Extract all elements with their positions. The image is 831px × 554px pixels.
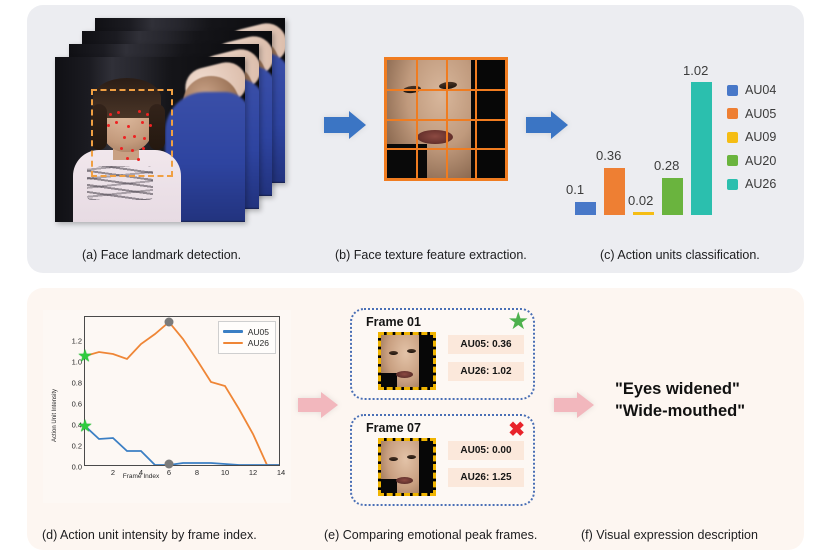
frame-thumbnail-07 (378, 438, 436, 496)
legend-line-icon (223, 330, 243, 332)
landmark-point (141, 121, 144, 124)
arrow-right-icon-4 (552, 390, 596, 425)
bar-au04 (575, 202, 596, 215)
legend-label: AU04 (745, 83, 776, 97)
bar-group: 0.1 0.36 0.02 0.28 1.02 (575, 65, 715, 215)
x-tick-10: 10 (221, 468, 229, 477)
legend-item-au26: AU26 (727, 177, 776, 191)
landmark-point (133, 135, 136, 138)
series-line-au05 (85, 426, 279, 465)
frame-thumbnail-01 (378, 332, 436, 390)
bar-column-au04: 0.1 (575, 65, 596, 215)
caption-c: (c) Action units classification. (600, 248, 760, 262)
legend-item-au09: AU09 (727, 130, 776, 144)
caption-d: (d) Action unit intensity by frame index… (42, 528, 257, 542)
description-line-2: "Wide-mouthed" (615, 400, 745, 422)
legend-label: AU20 (745, 154, 776, 168)
caption-a: (a) Face landmark detection. (82, 248, 241, 262)
y-tick-0: 0.0 (72, 463, 82, 472)
caption-b: (b) Face texture feature extraction. (335, 248, 527, 262)
legend-label: AU05 (745, 107, 776, 121)
bar-au20 (662, 178, 683, 215)
landmark-point (146, 113, 149, 116)
frame-card-title: Frame 07 (366, 421, 421, 435)
bar-column-au20: 0.28 (662, 65, 683, 215)
y-tick-4: 0.8 (72, 379, 82, 388)
bar-value-label: 0.02 (628, 193, 653, 208)
peak-star-marker-au26: ★ (77, 348, 92, 365)
frame-card-01[interactable]: Frame 01 ★ AU05: 0.36 AU26: 1.02 (350, 308, 535, 400)
metric-chip-au26: AU26: 1.02 (448, 362, 524, 381)
metric-chip-au26: AU26: 1.25 (448, 468, 524, 487)
face-texture-grid (384, 57, 508, 181)
landmark-point (127, 125, 130, 128)
y-tick-3: 0.6 (72, 400, 82, 409)
legend-swatch-icon (727, 179, 738, 190)
legend-item-au05: AU05 (727, 107, 776, 121)
legend-item-au04: AU04 (727, 83, 776, 97)
x-tick-8: 8 (195, 468, 199, 477)
landmark-point (126, 157, 129, 160)
peak-dot-marker-au26 (165, 318, 174, 327)
expression-description: "Eyes widened" "Wide-mouthed" (615, 378, 745, 423)
legend-label: AU05 (248, 327, 269, 337)
caption-e: (e) Comparing emotional peak frames. (324, 528, 537, 542)
landmark-point (143, 137, 146, 140)
peak-dot-marker-au05 (165, 460, 174, 469)
peak-star-marker-au05: ★ (77, 418, 92, 435)
caption-f: (f) Visual expression description (581, 528, 758, 542)
x-tick-12: 12 (249, 468, 257, 477)
landmark-point (107, 124, 110, 127)
bar-value-label: 0.36 (596, 148, 621, 163)
bar-column-au26: 1.02 (691, 65, 712, 215)
grid-line-v2 (446, 60, 448, 178)
bar-au05 (604, 168, 625, 215)
thumbnail-dark-region-2 (381, 479, 397, 493)
bar-value-label: 1.02 (683, 63, 708, 78)
bar-value-label: 0.1 (566, 182, 584, 197)
thumbnail-eye-left (389, 351, 398, 355)
legend-item-au26: AU26 (223, 338, 269, 348)
figure-canvas: 0.1 0.36 0.02 0.28 1.02 A (0, 0, 831, 554)
grid-line-v1 (416, 60, 418, 178)
metric-chip-au05: AU05: 0.36 (448, 335, 524, 354)
metric-chip-au05: AU05: 0.00 (448, 441, 524, 460)
legend-swatch-icon (727, 132, 738, 143)
legend-item-au20: AU20 (727, 154, 776, 168)
arrow-right-icon-2 (524, 110, 570, 145)
arrow-right-icon-3 (296, 390, 340, 425)
thumbnail-eye-right (407, 455, 416, 459)
bar-chart-legend: AU04 AU05 AU09 AU20 AU26 (727, 83, 776, 201)
face-bounding-box (91, 89, 173, 177)
x-axis-label: Frame Index (123, 473, 160, 480)
legend-label: AU09 (745, 130, 776, 144)
frame-card-title: Frame 01 (366, 315, 421, 329)
frame-card-07[interactable]: Frame 07 ✖ AU05: 0.00 AU26: 1.25 (350, 414, 535, 506)
legend-swatch-icon (727, 85, 738, 96)
legend-swatch-icon (727, 155, 738, 166)
landmark-point (138, 110, 141, 113)
green-star-icon: ★ (507, 310, 529, 334)
landmark-point (142, 147, 145, 150)
video-frame-stack (55, 18, 285, 228)
legend-line-icon (223, 342, 243, 344)
thumbnail-eye-right (407, 349, 416, 353)
bar-value-label: 0.28 (654, 158, 679, 173)
bar-au09 (633, 212, 654, 215)
landmark-point (115, 121, 118, 124)
thumbnail-mouth (396, 371, 413, 378)
arrow-right-icon-1 (322, 110, 368, 145)
x-tick-6: 6 (167, 468, 171, 477)
landmark-point (120, 147, 123, 150)
bar-column-au05: 0.36 (604, 65, 625, 215)
landmark-point (131, 149, 134, 152)
landmark-point (109, 113, 112, 116)
grid-line-v3 (475, 60, 477, 178)
thumbnail-dark-region (419, 335, 433, 387)
thumbnail-eye-left (389, 457, 398, 461)
legend-label: AU26 (745, 177, 776, 191)
line-chart-plot-area: Action Unit Intensity 0.0 0.2 0.4 0.6 0.… (84, 316, 280, 466)
thumbnail-dark-region (419, 441, 433, 493)
x-tick-2: 2 (111, 468, 115, 477)
bar-au26 (691, 82, 712, 215)
landmark-point (117, 111, 120, 114)
red-cross-icon: ✖ (508, 420, 525, 440)
legend-item-au05: AU05 (223, 327, 269, 337)
landmark-point (137, 158, 140, 161)
landmark-point (123, 136, 126, 139)
action-units-bar-chart: 0.1 0.36 0.02 0.28 1.02 A (575, 30, 725, 215)
y-tick-6: 1.2 (72, 337, 82, 346)
peak-frame-comparison: Frame 01 ★ AU05: 0.36 AU26: 1.02 Frame 0… (350, 308, 535, 508)
landmark-point (149, 124, 152, 127)
x-tick-14: 14 (277, 468, 285, 477)
y-axis-label: Action Unit Intensity (52, 389, 58, 442)
thumbnail-mouth (396, 477, 413, 484)
video-frame-1 (55, 57, 245, 222)
au-intensity-line-chart: Action Unit Intensity 0.0 0.2 0.4 0.6 0.… (43, 310, 291, 503)
bar-column-au09: 0.02 (633, 65, 654, 215)
y-tick-1: 0.2 (72, 442, 82, 451)
legend-swatch-icon (727, 108, 738, 119)
line-chart-legend: AU05 AU26 (218, 321, 276, 354)
thumbnail-dark-region-2 (381, 373, 397, 387)
description-line-1: "Eyes widened" (615, 378, 745, 400)
legend-label: AU26 (248, 338, 269, 348)
